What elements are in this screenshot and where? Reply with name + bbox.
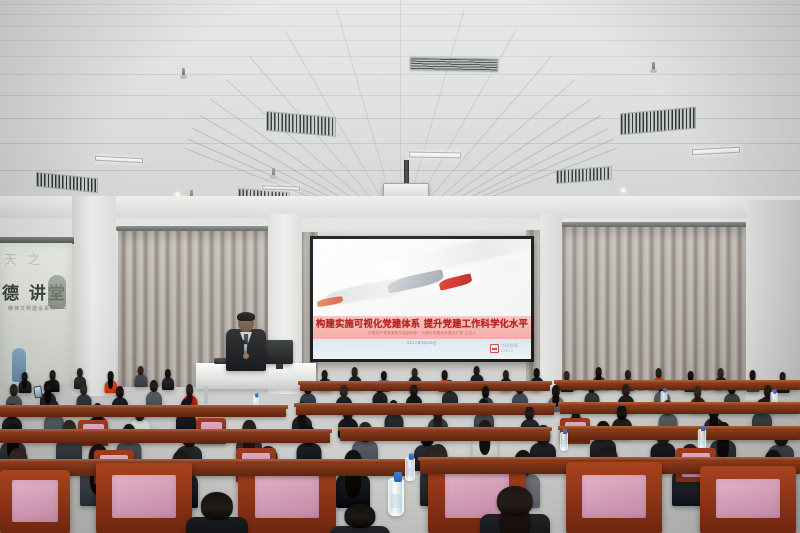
water-bottle: [560, 432, 568, 451]
audience-member-head: [21, 372, 28, 381]
audience-member-head: [533, 368, 540, 378]
audience-member-head: [186, 384, 194, 396]
ceiling-grid-line: [0, 26, 800, 27]
audience-member-head: [655, 368, 662, 378]
audience-desk-top: [0, 405, 288, 409]
audience-member-head: [441, 370, 448, 380]
sprinkler-head: [182, 68, 185, 77]
audience-member-head: [10, 384, 18, 396]
audience-member-head: [411, 368, 418, 377]
projection-screen: 构建实施可视化党建体系 提升党建工作科学化水平 中国共产党某某委员会组织部 · …: [310, 236, 534, 362]
audience-desk-top: [338, 427, 552, 431]
audience-member: [186, 492, 248, 533]
audience-member-head: [595, 367, 602, 377]
audience-member-head: [165, 369, 171, 378]
wall-column-mid-right: [540, 214, 562, 394]
audience-desk-top: [0, 459, 412, 463]
brand-mark-icon: [490, 344, 499, 353]
audience-member-head: [503, 370, 509, 379]
audience-member-head: [321, 370, 328, 379]
audience-member-head: [150, 380, 158, 392]
audience-chair: [96, 462, 192, 533]
audience-member: [480, 486, 550, 533]
slide-logo-text: 中国铁建 CRCC: [501, 344, 518, 352]
projected-slide: 构建实施可视化党建体系 提升党建工作科学化水平 中国共产党某某委员会组织部 · …: [313, 239, 531, 359]
chair-cushion: [112, 475, 175, 518]
logo-line-2: CRCC: [501, 348, 513, 353]
audience-member-head: [80, 383, 88, 395]
audience-member-head: [116, 386, 124, 398]
audience-member-head: [473, 366, 480, 375]
water-bottle: [405, 457, 415, 481]
audience-desk: [340, 430, 550, 441]
chair-cushion: [582, 475, 645, 518]
audience-member-head: [717, 368, 724, 378]
audience-member-head: [552, 385, 560, 397]
sprinkler-head: [272, 168, 275, 177]
ceiling-grid-line: [0, 170, 800, 171]
audience-member-head: [625, 370, 631, 379]
air-vent: [410, 57, 498, 72]
speaker-person: [226, 313, 266, 369]
banner-ghost-text: 天 之: [4, 249, 43, 268]
audience-chair: [566, 462, 662, 533]
audience-desk-top: [294, 403, 556, 407]
ceiling-grid-line: [0, 74, 800, 75]
chair-cushion: [12, 480, 58, 523]
audience-desk: [560, 429, 800, 440]
wall-column-left: [72, 196, 116, 396]
speaker-hand: [243, 353, 249, 359]
audience-desk: [0, 432, 330, 443]
audience-member-head: [107, 371, 114, 381]
audience-member-head: [381, 371, 387, 380]
audience-desk-top: [558, 426, 800, 430]
audience-member-head: [49, 370, 56, 380]
ceiling-grid-line: [0, 95, 800, 96]
speaker-hair: [237, 312, 255, 321]
audience-member-head: [351, 367, 358, 377]
audience-member-head: [344, 504, 375, 528]
audience-desk-top: [558, 402, 800, 406]
strip-light: [409, 152, 461, 159]
audience-desk-top: [0, 429, 332, 433]
audience-member-head: [525, 406, 535, 420]
audience-member-head: [694, 386, 702, 398]
ceiling-grid-line: [0, 143, 800, 144]
audience-desk-top: [418, 457, 800, 461]
audience-chair: [700, 466, 796, 533]
audience-member: [162, 369, 174, 389]
ceiling-grid-line: [0, 4, 800, 5]
audience-desk: [560, 405, 800, 414]
audience-member-body: [162, 377, 174, 389]
wall-banner: 天 之 德 讲堂 精神文明建设系列——: [0, 243, 72, 388]
audience-desk-top: [554, 380, 800, 384]
audience-desk: [0, 408, 286, 417]
ceiling-grid-line: [0, 56, 800, 57]
slide-subtitle: 中国共产党某某委员会组织部 · 可视化党建体系建设汇报 主讲人: [313, 331, 531, 336]
chair-cushion: [716, 479, 779, 518]
slide-title: 构建实施可视化党建体系 提升党建工作科学化水平: [314, 316, 530, 330]
table-leg: [204, 386, 208, 404]
banner-figure-icon: [48, 275, 66, 309]
audience-chair: [0, 470, 70, 533]
water-bottle: [388, 478, 404, 516]
audience-member-head: [340, 385, 348, 397]
slide-logo: 中国铁建 CRCC: [490, 344, 518, 353]
mobile-phone: [33, 386, 43, 399]
audience-member-head: [482, 386, 490, 398]
window-curtain-right: [558, 227, 746, 391]
audience-member-head: [563, 371, 570, 380]
audience-member-head: [749, 370, 756, 380]
audience-member: [146, 380, 162, 406]
audience-member-head: [77, 368, 83, 377]
lecture-hall-photograph: 天 之 德 讲堂 精神文明建设系列—— 构建实施可视化党建体系 提升党建工作科学…: [0, 0, 800, 533]
audience-member-head: [201, 492, 233, 520]
down-light: [620, 188, 627, 193]
audience-member-head: [137, 366, 144, 375]
audience-member-head: [497, 486, 533, 516]
ceiling-grid-line: [0, 14, 800, 15]
audience-member-head: [687, 371, 694, 380]
chair-cushion: [255, 473, 320, 518]
confidence-monitor: [265, 340, 293, 364]
audience-desk: [296, 406, 554, 415]
sprinkler-head: [652, 62, 655, 71]
audience-member: [330, 504, 390, 533]
audience-member-head: [617, 405, 627, 420]
ceiling-soffit: [0, 196, 800, 218]
ceiling-grid-line: [0, 40, 800, 41]
audience-member-head: [622, 384, 630, 396]
slide-graphic: [313, 239, 531, 318]
